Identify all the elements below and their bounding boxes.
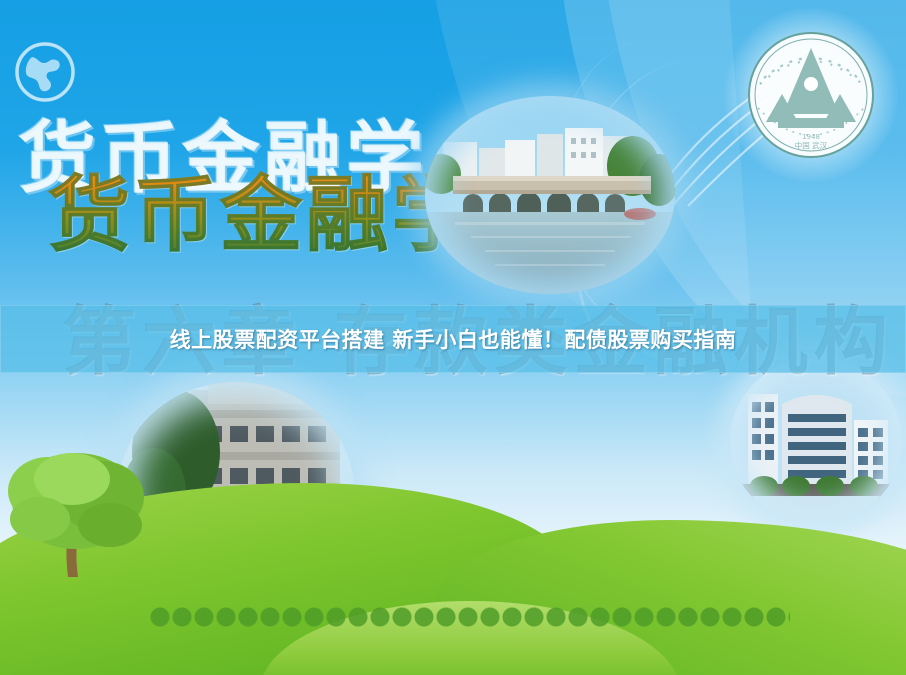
emblem-halo <box>724 8 898 182</box>
title-band: 线上股票配资平台搭建 新手小白也能懂！配债股票购买指南 <box>0 305 906 373</box>
slide-canvas: 货币金融学 货币金融学 <box>0 0 906 675</box>
photo-bridge <box>425 96 675 294</box>
university-emblem: 1948 中国 武汉 <box>738 22 884 168</box>
tree-line <box>150 597 790 631</box>
wordmark-main: 货币金融学 <box>48 148 478 267</box>
page-title: 线上股票配资平台搭建 新手小白也能懂！配债股票购买指南 <box>170 324 737 354</box>
tree-icon <box>6 439 156 579</box>
globe-icon <box>14 41 76 103</box>
